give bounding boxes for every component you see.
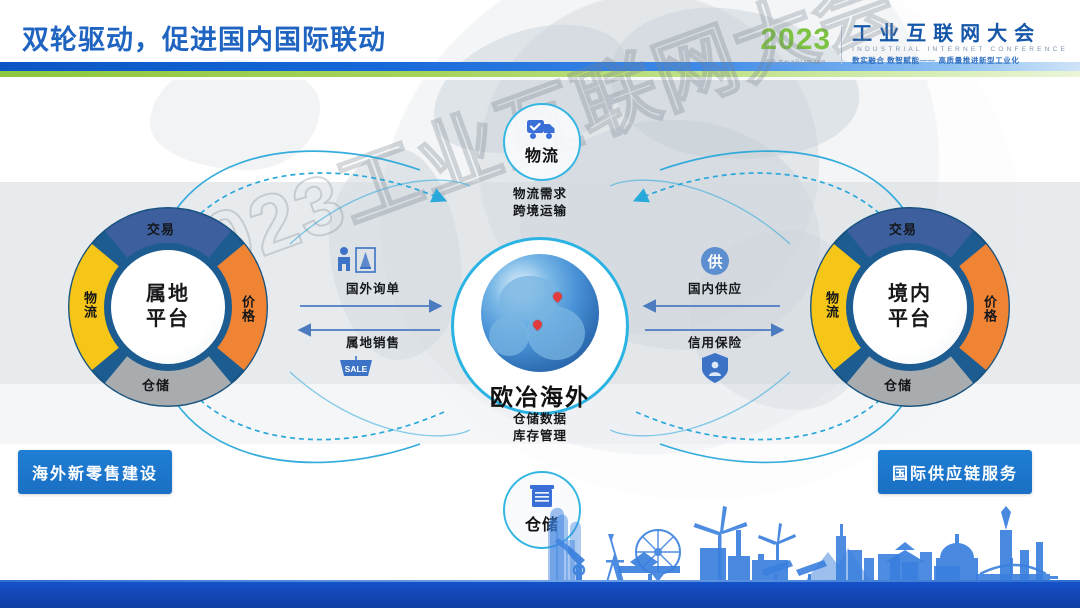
- tag-overseas-retail[interactable]: 海外新零售建设: [18, 450, 172, 494]
- sale-tag-icon: SALE: [334, 354, 378, 382]
- right-segment-label-warehouse: 仓储: [884, 375, 912, 394]
- right-ring-hub-line2: 平台: [888, 307, 932, 332]
- center-node-ouye-overseas[interactable]: 欧冶海外: [451, 237, 629, 415]
- right-segment-label-logistics: 物流: [822, 291, 841, 319]
- left-segment-label-warehouse: 仓储: [142, 375, 170, 394]
- globe-icon: [481, 254, 599, 372]
- flow-top-label: 物流需求 跨境运输: [478, 186, 602, 220]
- left-segment-label-logistics: 物流: [80, 291, 99, 319]
- supply-icon: 供: [700, 246, 730, 276]
- flow-bottom-line1: 仓储数据: [478, 411, 602, 428]
- flow-left-in-label: 属地销售: [320, 335, 426, 352]
- left-ring-hub-line1: 属地: [146, 282, 190, 307]
- node-logistics-label: 物流: [525, 142, 559, 166]
- right-segment-label-price: 价格: [980, 295, 999, 323]
- left-ring-hub: 属地 平台: [112, 251, 224, 363]
- left-segment-label-price: 价格: [238, 295, 257, 323]
- center-node-label: 欧冶海外: [490, 378, 590, 412]
- flow-right-in-label: 国内供应: [655, 281, 775, 298]
- tag-international-supply-chain[interactable]: 国际供应链服务: [878, 450, 1032, 494]
- flow-bottom-label: 仓储数据 库存管理: [478, 411, 602, 445]
- shield-person-icon: [700, 352, 730, 384]
- globe-landmass: [527, 306, 585, 360]
- left-segment-label-trade: 交易: [147, 219, 175, 238]
- node-logistics[interactable]: 物流: [503, 103, 581, 181]
- truck-check-icon: [527, 118, 557, 140]
- flow-bottom-line2: 库存管理: [478, 428, 602, 445]
- person-inquiry-icon: [334, 246, 378, 274]
- left-platform-ring[interactable]: 属地 平台 交易 价格 仓储 物流: [68, 207, 268, 407]
- globe-landmass: [489, 316, 529, 356]
- footer-band: [0, 582, 1080, 608]
- flow-top-line1: 物流需求: [478, 186, 602, 203]
- svg-text:供: 供: [706, 253, 722, 271]
- flow-right-out-label: 信用保险: [655, 335, 775, 352]
- flow-left-out-label: 国外询单: [320, 281, 426, 298]
- svg-text:SALE: SALE: [345, 364, 368, 374]
- right-ring-hub: 境内 平台: [854, 251, 966, 363]
- flow-top-line2: 跨境运输: [478, 203, 602, 220]
- left-ring-hub-line2: 平台: [146, 307, 190, 332]
- right-segment-label-trade: 交易: [889, 219, 917, 238]
- slide-canvas: 双轮驱动，促进国内国际联动 2023 中国·苏州 8月14日-16日 工业互联网…: [0, 0, 1080, 608]
- right-platform-ring[interactable]: 境内 平台 交易 价格 仓储 物流: [810, 207, 1010, 407]
- footer-skyline-right: [540, 496, 1080, 582]
- right-ring-hub-line1: 境内: [888, 282, 932, 307]
